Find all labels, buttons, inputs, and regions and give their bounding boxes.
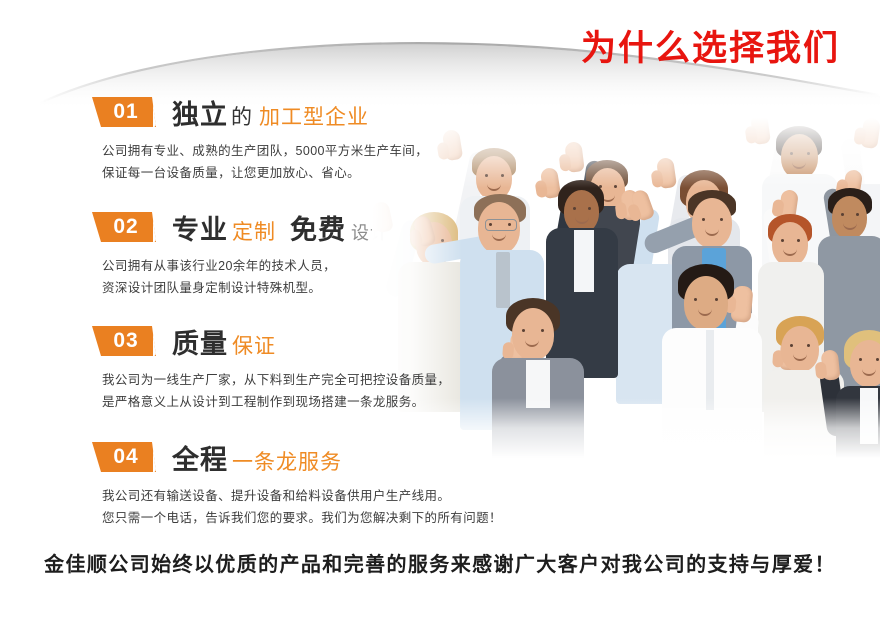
feature-01-title-mid: 的 (231, 101, 252, 131)
feature-01-title-strong: 独立 (172, 93, 228, 132)
feature-04-title-accent: 一条龙服务 (232, 446, 342, 476)
feature-01-title-accent: 加工型企业 (259, 101, 369, 131)
page-title: 为什么选择我们 (581, 20, 840, 71)
feature-01-body: 公司拥有专业、成熟的生产团队，5000平方米生产车间， 保证每一台设备质量，让您… (102, 140, 428, 184)
feature-02-title-accent: 定制 (232, 216, 276, 246)
feature-03-line-2: 是严格意义上从设计到工程制作到现场搭建一条龙服务。 (102, 391, 450, 413)
promotional-poster: 为什么选择我们 (0, 0, 880, 626)
feature-02-title-strong-2: 免费 (290, 208, 346, 247)
feature-04-line-1: 我公司还有输送设备、提升设备和给料设备供用户生产线用。 (102, 485, 502, 507)
badge-notch-icon (153, 440, 166, 474)
feature-01-number: 01 (113, 100, 138, 124)
feature-02-number: 02 (113, 215, 138, 239)
feature-04-title: 全程 一条龙服务 (172, 438, 342, 477)
badge-notch-icon (153, 95, 166, 129)
feature-01-line-1: 公司拥有专业、成熟的生产团队，5000平方米生产车间， (102, 140, 428, 162)
feature-01-title: 独立 的 加工型企业 (172, 93, 369, 132)
feature-02-heading: 02 专业 定制 免费 设计 (92, 210, 389, 244)
feature-04-number: 04 (113, 445, 138, 469)
feature-03-line-1: 我公司为一线生产厂家，从下料到生产完全可把控设备质量， (102, 369, 450, 391)
feature-02-title: 专业 定制 免费 设计 (172, 208, 389, 247)
feature-02-body: 公司拥有从事该行业20余年的技术人员， 资深设计团队量身定制设计特殊机型。 (102, 255, 389, 299)
feature-02-number-badge: 02 (92, 212, 156, 242)
feature-02-title-strong: 专业 (172, 208, 228, 247)
badge-notch-icon (153, 324, 166, 358)
feature-04-title-strong: 全程 (172, 438, 228, 477)
feature-02-line-1: 公司拥有从事该行业20余年的技术人员， (102, 255, 389, 277)
feature-03-number-badge: 03 (92, 326, 156, 356)
feature-03-number: 03 (113, 329, 138, 353)
feature-04-body: 我公司还有输送设备、提升设备和给料设备供用户生产线用。 您只需一个电话，告诉我们… (102, 485, 502, 529)
photo-top-fade (372, 118, 880, 188)
feature-block-01: 01 独立 的 加工型企业 公司拥有专业、成熟的生产团队，5000平方米生产车间… (92, 95, 428, 184)
feature-03-title: 质量 保证 (172, 322, 276, 361)
feature-03-body: 我公司为一线生产厂家，从下料到生产完全可把控设备质量， 是严格意义上从设计到工程… (102, 369, 450, 413)
feature-02-line-2: 资深设计团队量身定制设计特殊机型。 (102, 277, 389, 299)
footer-tagline: 金佳顺公司始终以优质的产品和完善的服务来感谢广大客户对我公司的支持与厚爱！ (0, 548, 880, 577)
feature-01-number-badge: 01 (92, 97, 156, 127)
feature-block-02: 02 专业 定制 免费 设计 公司拥有从事该行业20余年的技术人员， 资深设计团… (92, 210, 389, 299)
badge-notch-icon (153, 210, 166, 244)
feature-04-line-2: 您只需一个电话，告诉我们您的要求。我们为您解决剩下的所有问题！ (102, 507, 502, 529)
feature-03-title-accent: 保证 (232, 330, 276, 360)
feature-04-number-badge: 04 (92, 442, 156, 472)
feature-03-title-strong: 质量 (172, 322, 228, 361)
feature-01-line-2: 保证每一台设备质量，让您更加放心、省心。 (102, 162, 428, 184)
